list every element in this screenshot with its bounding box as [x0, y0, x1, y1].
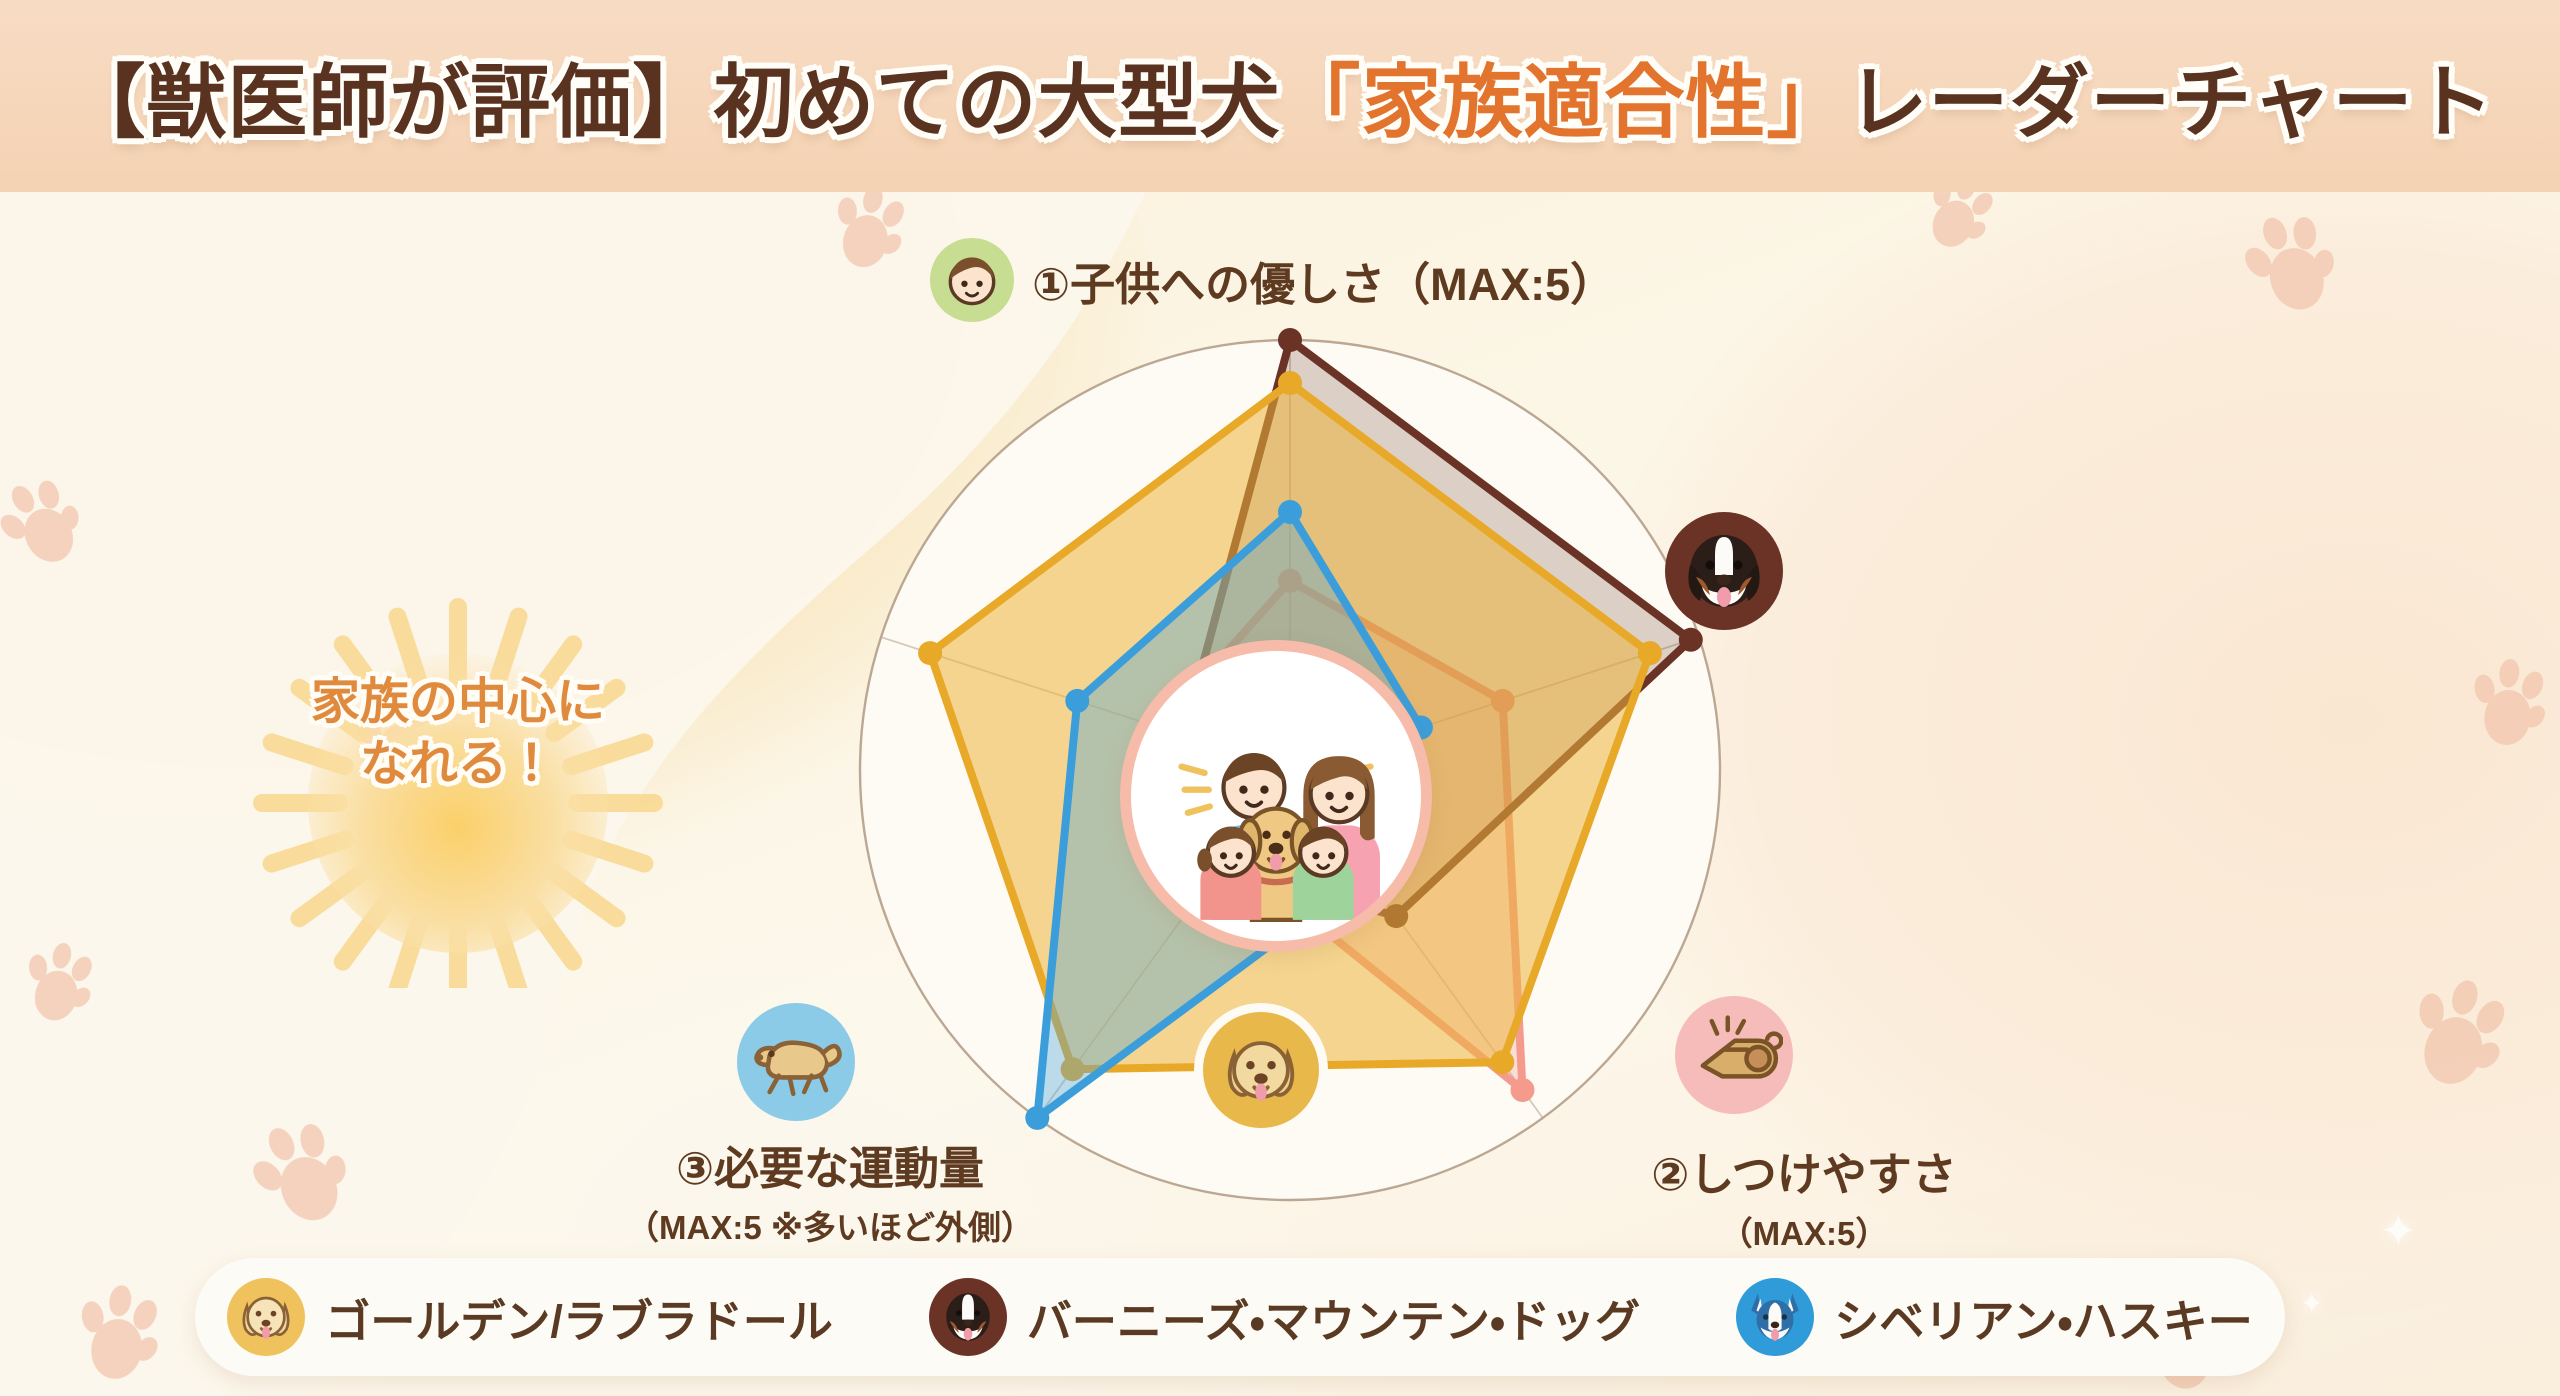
axis-label-exercise: ③必要な運動量 （MAX:5 ※多いほど外側） — [600, 1132, 1060, 1249]
axis-label-trainability-text: ②しつけやすさ — [1651, 1149, 1956, 1200]
golden-retriever-glyph — [232, 1283, 300, 1351]
badge-line-2: なれる！ — [360, 737, 556, 791]
radar-data-point — [1278, 371, 1302, 395]
axis-label-kindness-text: ①子供への優しさ（MAX:5） — [1032, 248, 1615, 313]
legend: ゴールデン/ラブラドール バーニーズ・マウンテン・ドッグ — [195, 1258, 2285, 1376]
golden-retriever-icon — [227, 1278, 305, 1356]
infographic-canvas: ✦ ✦ 【獣医師が評価】初めての大型犬「家族適合性」レーダーチャート — [0, 0, 2560, 1396]
whistle-icon — [1685, 1010, 1783, 1100]
running-dog-icon — [746, 1021, 846, 1103]
radar-data-point — [1025, 1106, 1049, 1130]
axis-label-exercise-text: ③必要な運動量 — [676, 1143, 984, 1194]
legend-item-husky[interactable]: シベリアン・ハスキー — [1736, 1278, 2253, 1356]
running-dog-marker — [737, 1003, 855, 1121]
husky-dog-icon — [1736, 1278, 1814, 1356]
sparkle-icon-small: ✦ — [2300, 1290, 2323, 1318]
legend-item-golden[interactable]: ゴールデン/ラブラドール — [227, 1278, 833, 1356]
axis-label-trainability-sub: （MAX:5） — [1594, 1207, 2014, 1255]
whistle-marker — [1675, 996, 1793, 1114]
legend-label-bernese: バーニーズ・マウンテン・ドッグ — [1027, 1285, 1640, 1350]
title-part-1: 【獣医師が評価】初めての大型犬 — [65, 58, 1280, 147]
title-highlight: 「家族適合性」 — [1280, 58, 1847, 147]
badge-text: 家族の中心に なれる！ — [238, 672, 678, 795]
bernese-dog-icon — [929, 1278, 1007, 1356]
husky-dog-glyph — [1742, 1284, 1808, 1350]
center-medallion — [1120, 640, 1432, 952]
radar-data-point — [1065, 689, 1089, 713]
legend-item-bernese[interactable]: バーニーズ・マウンテン・ドッグ — [929, 1278, 1640, 1356]
child-face-icon — [930, 238, 1014, 322]
radar-data-point — [1679, 628, 1703, 652]
radar-data-point — [1511, 1078, 1535, 1102]
axis-label-trainability: ②しつけやすさ （MAX:5） — [1594, 1138, 2014, 1255]
family-with-dog-icon — [1150, 670, 1402, 922]
child-face-glyph — [939, 247, 1005, 313]
axis-label-kindness: ①子供への優しさ（MAX:5） — [930, 238, 1615, 322]
bernese-dog-marker — [1665, 512, 1783, 630]
page-title: 【獣医師が評価】初めての大型犬「家族適合性」レーダーチャート — [65, 38, 2494, 154]
badge-line-1: 家族の中心に — [311, 675, 605, 729]
radar-data-point — [918, 641, 942, 665]
radar-data-point — [1278, 328, 1302, 352]
radar-data-point — [1490, 1050, 1514, 1074]
golden-retriever-icon — [1213, 1022, 1309, 1118]
legend-label-husky: シベリアン・ハスキー — [1834, 1285, 2253, 1350]
radar-data-point — [1278, 500, 1302, 524]
bernese-dog-icon — [1674, 521, 1774, 621]
radar-data-point — [1638, 641, 1662, 665]
golden-retriever-marker — [1203, 1012, 1319, 1128]
legend-label-golden: ゴールデン/ラブラドール — [325, 1285, 833, 1350]
bernese-dog-glyph — [935, 1284, 1001, 1350]
header-banner: 【獣医師が評価】初めての大型犬「家族適合性」レーダーチャート — [0, 0, 2560, 192]
title-part-2: レーダーチャート — [1847, 58, 2494, 147]
axis-label-exercise-sub: （MAX:5 ※多いほど外側） — [600, 1201, 1060, 1249]
sparkle-icon: ✦ — [2380, 1210, 2417, 1254]
